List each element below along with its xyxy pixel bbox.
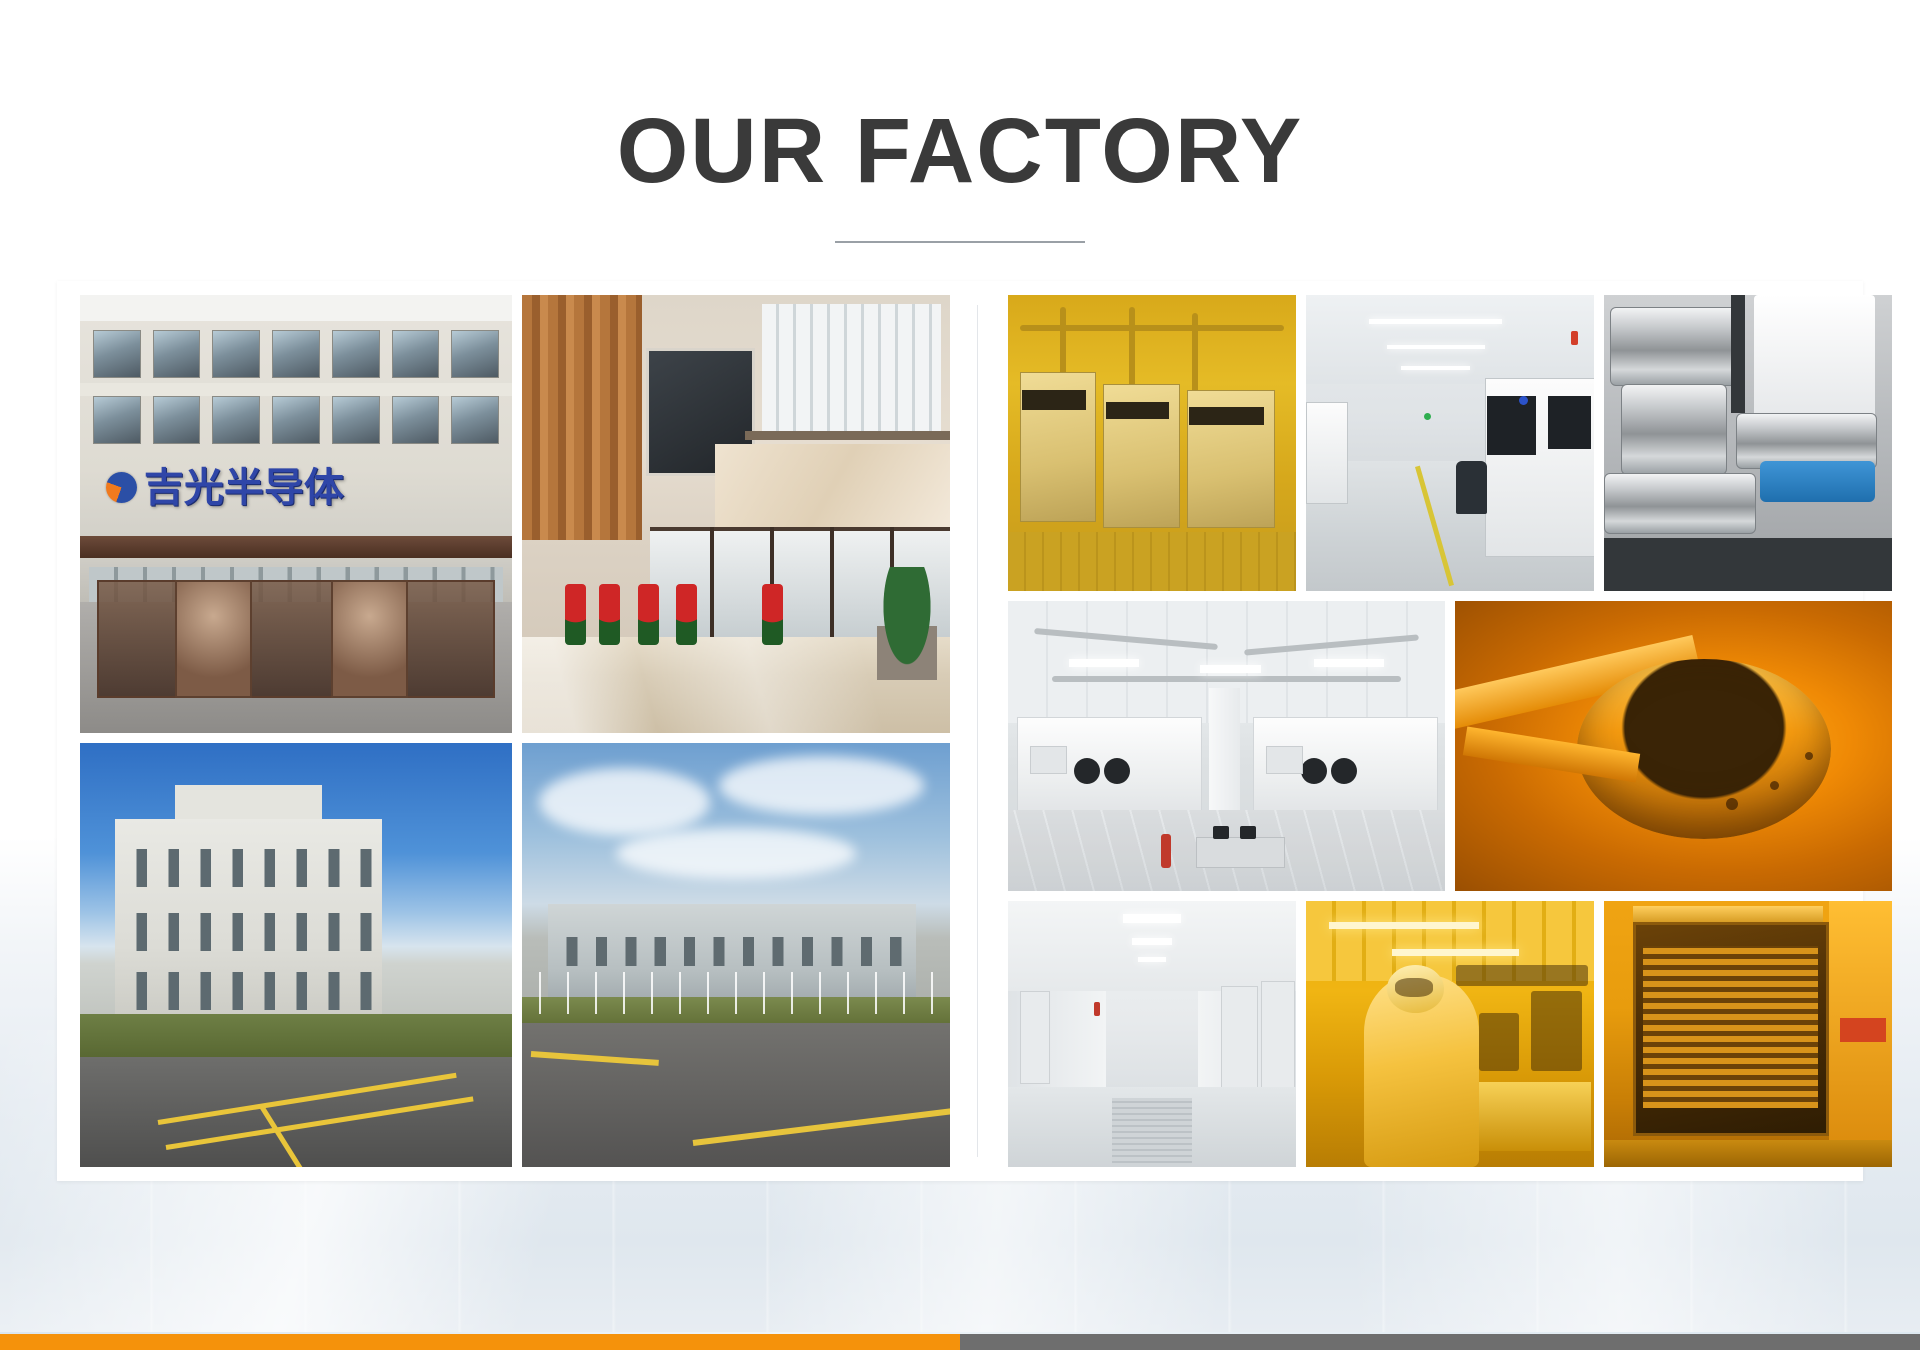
photo-machine-closeup[interactable] (1604, 295, 1892, 591)
building-sign-text: 吉光半导体 (144, 468, 344, 508)
photo-office-exterior[interactable]: 吉光半导体 (80, 295, 512, 733)
factory-photo-gallery: 吉光半导体 (80, 295, 1852, 1167)
photo-white-corridor[interactable] (1008, 901, 1296, 1167)
photo-cleanroom-hall[interactable] (1008, 601, 1445, 891)
photo-gold-machine-module[interactable] (1604, 901, 1892, 1167)
building-sign: 吉光半导体 (106, 453, 452, 523)
photo-copper-wafer[interactable] (1455, 601, 1892, 891)
gallery-left-group: 吉光半导体 (80, 295, 960, 1167)
page-title: OUR FACTORY (0, 0, 1920, 197)
footer-bar-orange (0, 1334, 960, 1350)
photo-yellow-cleanroom[interactable] (1008, 295, 1296, 591)
footer-bar (0, 1334, 1920, 1350)
page-header: OUR FACTORY (0, 0, 1920, 300)
company-logo-icon (106, 472, 137, 503)
photo-lab-corridor-equipment[interactable] (1306, 295, 1594, 591)
photo-lobby-interior[interactable] (522, 295, 950, 733)
gallery-right-group (994, 295, 1852, 1167)
photo-plant-warehouse[interactable] (522, 743, 950, 1167)
footer-bar-grey (960, 1334, 1920, 1350)
photo-office-building-sky[interactable] (80, 743, 512, 1167)
gallery-column-divider (960, 295, 994, 1167)
photo-worker-yellow-room[interactable] (1306, 901, 1594, 1167)
title-divider (835, 241, 1085, 243)
